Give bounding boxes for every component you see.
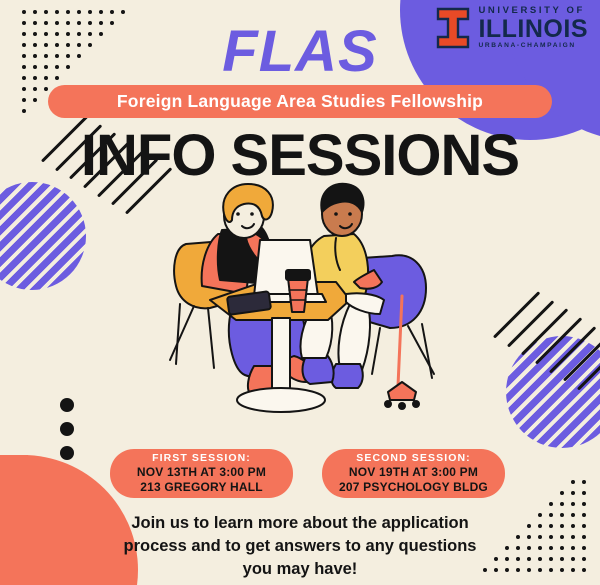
dot bbox=[99, 10, 103, 14]
dot bbox=[582, 524, 586, 528]
session-datetime: NOV 19TH AT 3:00 PM bbox=[349, 465, 478, 480]
footer-line-2: process and to get answers to any questi… bbox=[70, 535, 530, 558]
dot bbox=[571, 546, 575, 550]
dot bbox=[33, 98, 37, 102]
dot bbox=[571, 568, 575, 572]
session-location: 207 PSYCHOLOGY BLDG bbox=[339, 480, 488, 495]
dot bbox=[560, 524, 564, 528]
dot bbox=[44, 10, 48, 14]
dot bbox=[538, 546, 542, 550]
dot bbox=[582, 502, 586, 506]
dot bbox=[571, 524, 575, 528]
dot bbox=[582, 535, 586, 539]
dot bbox=[582, 513, 586, 517]
dot bbox=[44, 87, 48, 91]
subtitle-text: Foreign Language Area Studies Fellowship bbox=[117, 91, 483, 112]
dot bbox=[33, 10, 37, 14]
dot bbox=[560, 568, 564, 572]
session-pill-first: FIRST SESSION: NOV 13TH AT 3:00 PM 213 G… bbox=[110, 449, 293, 498]
dot bbox=[560, 535, 564, 539]
dot bbox=[549, 535, 553, 539]
dot bbox=[560, 502, 564, 506]
striped-purple-circle-left bbox=[0, 182, 86, 290]
dot bbox=[571, 491, 575, 495]
dot bbox=[60, 422, 74, 436]
dot bbox=[66, 10, 70, 14]
dot bbox=[582, 568, 586, 572]
logo-line-urbana-champaign: URBANA-CHAMPAIGN bbox=[478, 43, 588, 50]
illinois-logo: UNIVERSITY OF ILLINOIS URBANA-CHAMPAIGN bbox=[436, 6, 588, 49]
dot bbox=[549, 524, 553, 528]
dot bbox=[538, 568, 542, 572]
footer-line-1: Join us to learn more about the applicat… bbox=[70, 512, 530, 535]
hatch-line bbox=[493, 291, 540, 338]
dot bbox=[110, 10, 114, 14]
striped-purple-circle-right bbox=[506, 336, 600, 448]
dot bbox=[538, 513, 542, 517]
dot bbox=[549, 513, 553, 517]
dot bbox=[582, 546, 586, 550]
two-people-at-table-illustration bbox=[150, 178, 470, 430]
dot bbox=[560, 546, 564, 550]
footer-text: Join us to learn more about the applicat… bbox=[70, 512, 530, 580]
dot bbox=[571, 502, 575, 506]
dot bbox=[571, 513, 575, 517]
three-stacked-dots bbox=[60, 398, 74, 470]
dot bbox=[55, 10, 59, 14]
dot bbox=[549, 546, 553, 550]
dot bbox=[60, 398, 74, 412]
dot bbox=[22, 98, 26, 102]
poster-canvas: UNIVERSITY OF ILLINOIS URBANA-CHAMPAIGN … bbox=[0, 0, 600, 585]
dot bbox=[22, 109, 26, 113]
dot bbox=[77, 10, 81, 14]
dot bbox=[549, 568, 553, 572]
session-pill-second: SECOND SESSION: NOV 19TH AT 3:00 PM 207 … bbox=[322, 449, 505, 498]
dot bbox=[571, 557, 575, 561]
dot bbox=[538, 557, 542, 561]
dot bbox=[549, 502, 553, 506]
page-title: INFO SESSIONS bbox=[0, 122, 600, 189]
logo-line-illinois: ILLINOIS bbox=[478, 17, 588, 42]
dot bbox=[571, 480, 575, 484]
dot bbox=[22, 87, 26, 91]
dot bbox=[582, 491, 586, 495]
dot bbox=[560, 557, 564, 561]
session-location: 213 GREGORY HALL bbox=[140, 480, 263, 495]
dot bbox=[549, 557, 553, 561]
dot bbox=[33, 87, 37, 91]
dot bbox=[121, 10, 125, 14]
illinois-block-i-icon bbox=[436, 7, 470, 49]
session-label: FIRST SESSION: bbox=[152, 452, 251, 465]
session-label: SECOND SESSION: bbox=[356, 452, 471, 465]
dot bbox=[571, 535, 575, 539]
dot bbox=[538, 535, 542, 539]
subtitle-pill: Foreign Language Area Studies Fellowship bbox=[48, 85, 552, 118]
dot bbox=[22, 10, 26, 14]
dot bbox=[582, 557, 586, 561]
dot bbox=[560, 513, 564, 517]
footer-line-3: you may have! bbox=[70, 558, 530, 581]
dot bbox=[60, 446, 74, 460]
session-datetime: NOV 13TH AT 3:00 PM bbox=[137, 465, 266, 480]
dot bbox=[560, 491, 564, 495]
dot bbox=[88, 10, 92, 14]
illinois-wordmark: UNIVERSITY OF ILLINOIS URBANA-CHAMPAIGN bbox=[478, 6, 588, 49]
dot bbox=[582, 480, 586, 484]
dot bbox=[538, 524, 542, 528]
